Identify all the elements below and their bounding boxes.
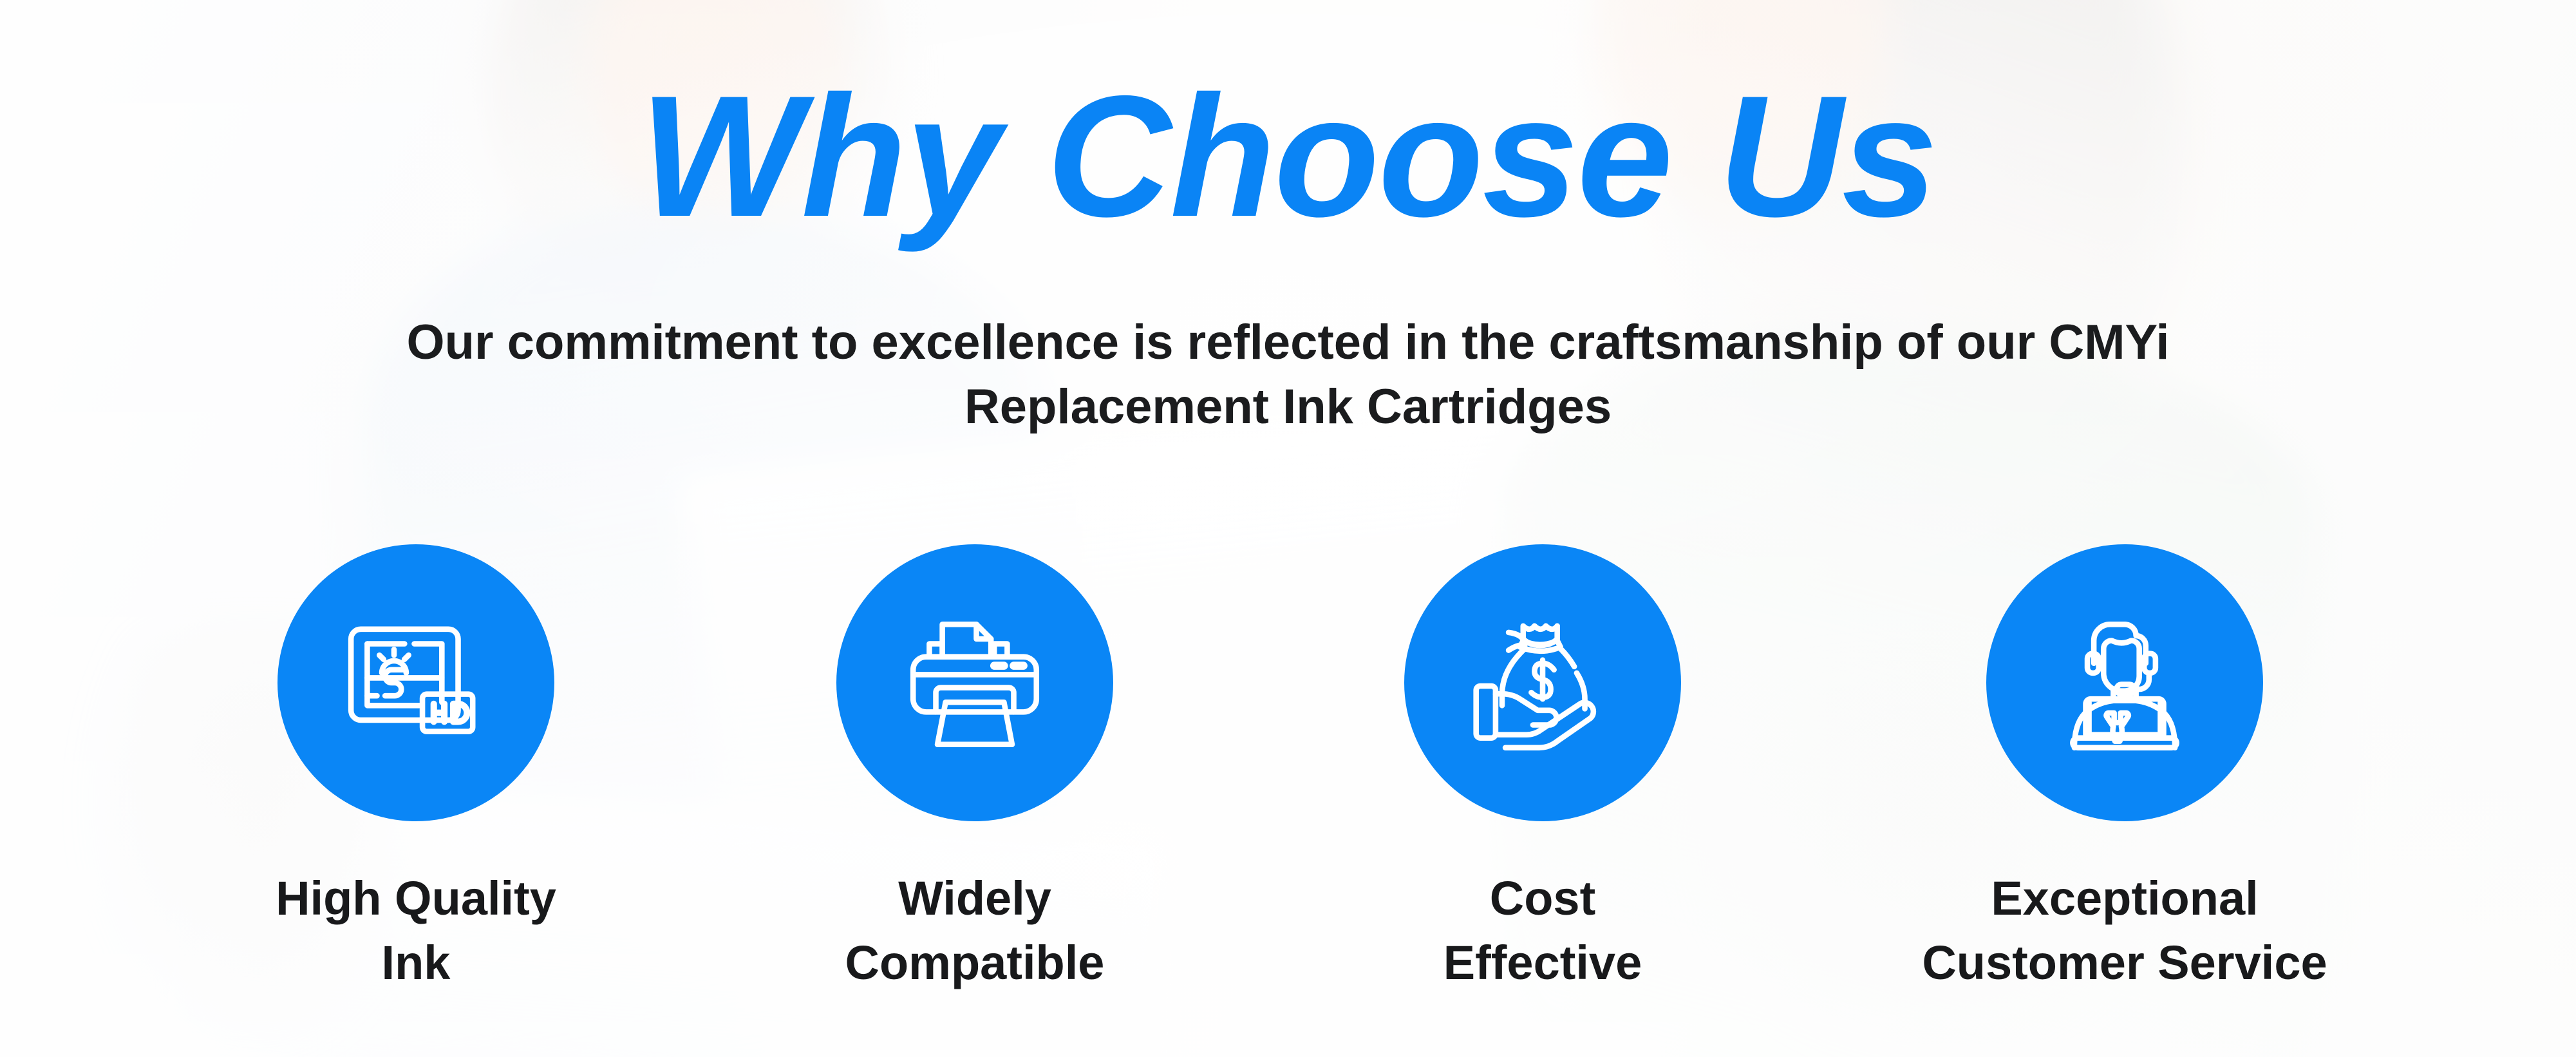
feature-icon-badge: [277, 544, 554, 821]
feature-item-cost-effective: Cost Effective: [1317, 544, 1768, 995]
printer-icon: [894, 602, 1056, 764]
page-title: Why Choose Us: [0, 70, 2576, 242]
feature-label: High Quality Ink: [276, 866, 556, 995]
feature-label: Exceptional Customer Service: [1922, 866, 2327, 995]
why-choose-us-banner: Why Choose Us Our commitment to excellen…: [0, 0, 2576, 1057]
feature-item-exceptional-customer-service: Exceptional Customer Service: [1899, 544, 2350, 995]
feature-item-high-quality-ink: High Quality Ink: [191, 544, 641, 995]
feature-icon-badge: [1404, 544, 1681, 821]
customer-support-agent-icon: [2044, 602, 2206, 764]
feature-icon-badge: [1986, 544, 2263, 821]
feature-label: Cost Effective: [1443, 866, 1642, 995]
hd-photo-icon: [335, 602, 497, 764]
feature-list: High Quality Ink: [232, 544, 2350, 995]
feature-item-widely-compatible: Widely Compatible: [749, 544, 1200, 995]
feature-icon-badge: [836, 544, 1113, 821]
page-subtitle: Our commitment to excellence is reflecte…: [335, 310, 2241, 440]
money-bag-in-hand-icon: [1462, 602, 1624, 764]
feature-label: Widely Compatible: [845, 866, 1105, 995]
